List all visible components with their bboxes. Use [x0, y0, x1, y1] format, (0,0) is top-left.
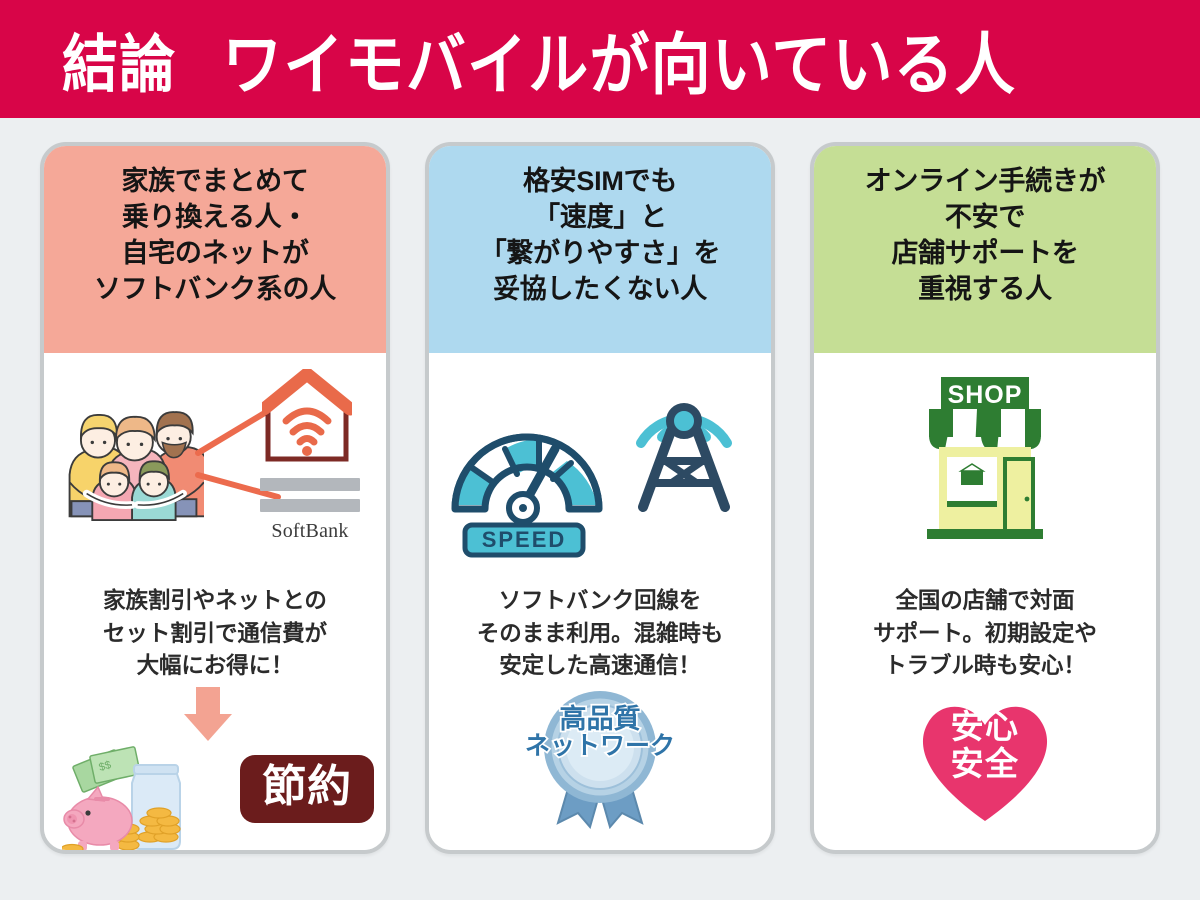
card-heading-line: 「繋がりやすさ」を — [437, 236, 763, 272]
card-copy: 家族割引やネットとの セット割引で通信費が 大幅にお得に！ — [93, 585, 337, 683]
savings-badge: 節約 — [240, 755, 374, 823]
card-copy-line: セット割引で通信費が — [103, 618, 327, 651]
page-header: 結論 ワイモバイルが向いている人 — [0, 0, 1200, 118]
svg-text:SPEED: SPEED — [482, 527, 567, 552]
down-arrow-head-icon — [184, 714, 232, 741]
card-heading-line: 妥協したくない人 — [437, 272, 763, 308]
speedometer-icon: SPEED — [447, 391, 627, 559]
card-heading-line: 不安で — [822, 200, 1148, 236]
card-heading: 家族でまとめて 乗り換える人・ 自宅のネットが ソフトバンク系の人 — [44, 146, 386, 353]
card-heading-line: ソフトバンク系の人 — [52, 272, 378, 308]
card-heading-line: 店舗サポートを — [822, 236, 1148, 272]
card-heading-line: 重視する人 — [822, 272, 1148, 308]
card-copy-line: 家族割引やネットとの — [103, 585, 327, 618]
card-illustration: SHOP — [814, 353, 1156, 585]
card-copy-line: 安定した高速通信！ — [477, 650, 723, 683]
card-footer: 安心 安全 — [814, 683, 1156, 850]
card-heading-line: 家族でまとめて — [52, 164, 378, 200]
page-title: ワイモバイルが向いている人 — [222, 10, 1016, 107]
card-copy-line: そのまま利用。混雑時も — [477, 618, 723, 651]
card-copy: ソフトバンク回線を そのまま利用。混雑時も 安定した高速通信！ — [467, 585, 733, 683]
card-body: SoftBank 家族割引やネットとの セット割引で通信費が 大幅にお得に！ — [44, 353, 386, 850]
card-footer: $$ — [44, 683, 386, 850]
quality-network-ribbon-icon — [520, 689, 680, 829]
badge-line-2: 安全 — [814, 746, 1156, 783]
card-heading-line: オンライン手続きが — [822, 164, 1148, 200]
softbank-logo: SoftBank — [260, 478, 360, 543]
logo-bar — [260, 478, 360, 491]
card-heading-line: 格安SIMでも — [437, 164, 763, 200]
card-footer: 高品質 ネットワーク — [429, 683, 771, 850]
down-arrow-icon — [196, 687, 220, 717]
card-illustration: SPEED — [429, 353, 771, 585]
card-heading-line: 「速度」と — [437, 200, 763, 236]
logo-bar — [260, 499, 360, 512]
card-copy: 全国の店舗で対面 サポート。初期設定や トラブル時も安心！ — [863, 585, 1106, 683]
card-heading: オンライン手続きが 不安で 店舗サポートを 重視する人 — [814, 146, 1156, 353]
card-illustration: SoftBank — [44, 353, 386, 585]
card-list: 家族でまとめて 乗り換える人・ 自宅のネットが ソフトバンク系の人 — [0, 142, 1200, 872]
card-shop-support[interactable]: オンライン手続きが 不安で 店舗サポートを 重視する人 SHOP — [810, 142, 1160, 854]
card-body: SPEED — [429, 353, 771, 850]
infographic-page: 結論 ワイモバイルが向いている人 家族でまとめて 乗り換える人・ 自宅のネットが… — [0, 0, 1200, 900]
card-copy-line: ソフトバンク回線を — [477, 585, 723, 618]
card-heading-line: 乗り換える人・ — [52, 200, 378, 236]
house-wifi-icon — [262, 369, 352, 465]
badge-line-1: 安心 — [814, 709, 1156, 746]
card-family-softbank[interactable]: 家族でまとめて 乗り換える人・ 自宅のネットが ソフトバンク系の人 — [40, 142, 390, 854]
card-heading-line: 自宅のネットが — [52, 236, 378, 272]
card-body: SHOP — [814, 353, 1156, 850]
card-copy-line: サポート。初期設定や — [873, 618, 1096, 651]
family-group-icon — [62, 395, 204, 523]
card-copy-line: トラブル時も安心！ — [873, 650, 1096, 683]
header-badge: 結論 — [62, 14, 176, 105]
piggy-bank-savings-icon: $$ — [62, 745, 212, 854]
card-speed-quality[interactable]: 格安SIMでも 「速度」と 「繋がりやすさ」を 妥協したくない人 — [425, 142, 775, 854]
card-copy-line: 大幅にお得に！ — [103, 650, 327, 683]
logo-wordmark: SoftBank — [260, 520, 360, 543]
safety-badge-text: 安心 安全 — [814, 709, 1156, 783]
svg-text:SHOP: SHOP — [948, 381, 1023, 409]
card-heading: 格安SIMでも 「速度」と 「繋がりやすさ」を 妥協したくない人 — [429, 146, 771, 353]
storefront-icon: SHOP — [885, 367, 1085, 557]
card-copy-line: 全国の店舗で対面 — [873, 585, 1096, 618]
antenna-tower-icon — [619, 365, 749, 515]
